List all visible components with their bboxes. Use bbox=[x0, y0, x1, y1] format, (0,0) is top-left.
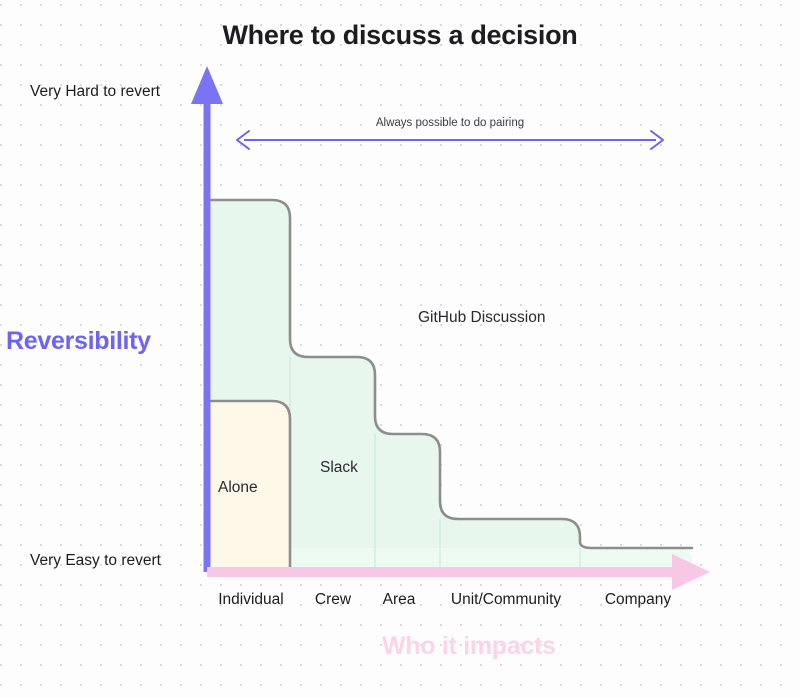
y-axis-top-label: Very Hard to revert bbox=[30, 83, 160, 101]
pairing-annotation-label: Always possible to do pairing bbox=[237, 117, 663, 129]
y-axis-bottom-label: Very Easy to revert bbox=[30, 552, 161, 570]
region-label-github-discussion: GitHub Discussion bbox=[418, 309, 546, 327]
x-axis-title: Who it impacts bbox=[382, 632, 556, 661]
region-label-slack: Slack bbox=[320, 459, 358, 477]
x-tick-unit-community: Unit/Community bbox=[430, 591, 582, 609]
y-axis-title: Reversibility bbox=[6, 327, 151, 356]
x-tick-area: Area bbox=[371, 591, 427, 609]
y-axis-arrowhead bbox=[191, 66, 223, 104]
x-tick-individual: Individual bbox=[211, 591, 291, 609]
page-title: Where to discuss a decision bbox=[0, 20, 800, 51]
region-label-alone: Alone bbox=[218, 479, 258, 497]
x-tick-crew: Crew bbox=[296, 591, 370, 609]
x-tick-company: Company bbox=[586, 591, 690, 609]
